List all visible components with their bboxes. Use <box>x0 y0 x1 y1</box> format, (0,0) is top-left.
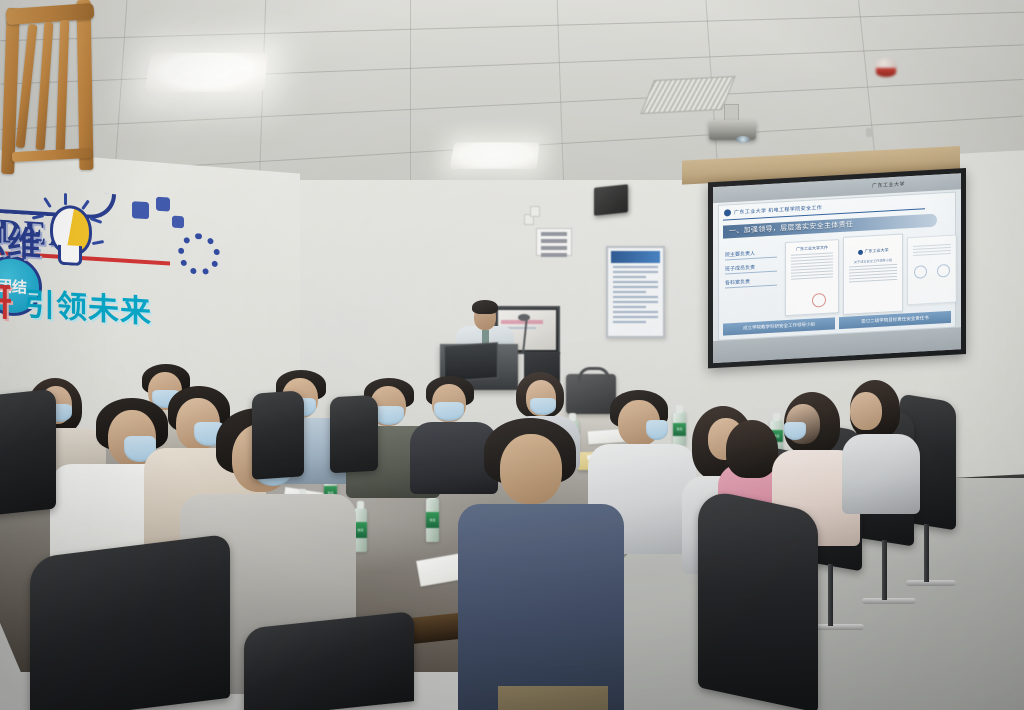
bottle-label: 怡宝 <box>673 423 686 436</box>
wall-graphic-idea: 思维 IDEA 研 引领未来 团结 <box>0 186 244 362</box>
projection-screen-frame: 广东工业大学 广东工业大学 机电工程学院安全工作 一、加强领导，层层落实安全主体… <box>708 168 966 368</box>
water-bottle: 怡宝 <box>673 412 686 446</box>
microphone <box>518 314 530 321</box>
bottle-label: 怡宝 <box>426 512 439 528</box>
framed-notice-poster <box>606 246 665 338</box>
slide-bullet: 院主要负责人 <box>725 249 777 261</box>
laptop-bag <box>566 374 616 414</box>
projector-lens <box>736 136 750 143</box>
fire-alarm-red-band <box>876 68 896 77</box>
projection-screen: 广东工业大学 广东工业大学 机电工程学院安全工作 一、加强领导，层层落实安全主体… <box>713 173 961 363</box>
slide-header-text: 广东工业大学 <box>872 180 905 189</box>
trousers <box>498 686 608 710</box>
sprinkler-head <box>866 128 873 137</box>
university-emblem-icon <box>724 209 731 216</box>
slide-bullet-list: 院主要负责人 班子成员负责 各科室负责 <box>725 249 777 294</box>
slide-bullet: 各科室负责 <box>725 277 777 289</box>
face-mask <box>434 402 464 421</box>
face-mask <box>374 406 404 425</box>
slide-document-image <box>907 235 957 306</box>
ceiling-light-panel <box>144 53 268 92</box>
face-mask <box>646 420 668 440</box>
meeting-room-photo: 思维 IDEA 研 引领未来 团结 广东工业大学 <box>0 0 1024 710</box>
puzzle-piece-icon <box>132 201 149 219</box>
wall-speaker <box>594 184 628 216</box>
slide-document-image: 广东工业大学文件 <box>785 239 839 316</box>
presenter-hair <box>472 300 498 314</box>
wall-notice-card <box>536 228 572 256</box>
wallart-text-yinling: 引领未来 <box>24 279 152 332</box>
ceiling-light-panel <box>450 142 540 168</box>
wall-socket <box>530 206 540 217</box>
wallart-text-siwei: 思维 <box>0 213 42 266</box>
slide-bullet: 班子成员负责 <box>725 263 777 275</box>
face-mask <box>530 398 556 415</box>
slide-document-image: 广东工业大学 关于成立安全工作领导小组 <box>843 234 903 315</box>
red-seal-icon <box>812 293 826 308</box>
slide-circle-graphic <box>914 265 927 279</box>
slide-circle-graphic <box>937 264 950 278</box>
puzzle-piece-icon <box>156 197 170 212</box>
wallart-text-yan: 研 <box>0 270 13 327</box>
puzzle-piece-icon <box>172 216 184 229</box>
slide-document-title: 广东工业大学 <box>865 247 889 254</box>
face-mask <box>784 422 806 440</box>
water-bottle: 怡宝 <box>426 498 439 542</box>
presentation-slide: 广东工业大学 机电工程学院安全工作 一、加强领导，层层落实安全主体责任 院主要负… <box>718 192 956 341</box>
lightbulb-icon <box>44 204 90 265</box>
air-vent <box>640 76 735 114</box>
slide-caption: 成立学院教学科研安全工作领导小组 <box>723 317 835 335</box>
university-emblem-icon <box>858 249 863 254</box>
